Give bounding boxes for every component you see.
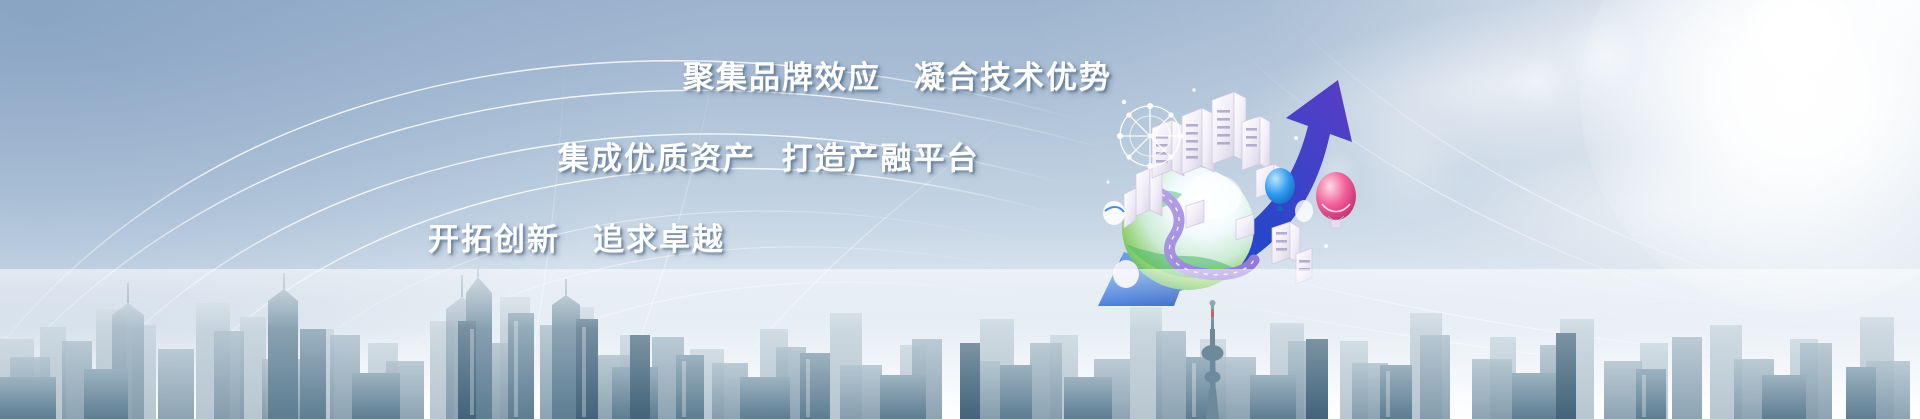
slogan-line-3: 开拓创新 追求卓越	[428, 214, 725, 259]
slogan-line-2: 集成优质资产 打造产融平台	[558, 133, 980, 178]
hero-banner: 聚集品牌效应 凝合技术优势 集成优质资产 打造产融平台 开拓创新 追求卓越	[0, 0, 1920, 419]
slogan-line-1: 聚集品牌效应 凝合技术优势	[683, 52, 1112, 97]
slogan-group: 聚集品牌效应 凝合技术优势 集成优质资产 打造产融平台 开拓创新 追求卓越	[0, 0, 1920, 419]
